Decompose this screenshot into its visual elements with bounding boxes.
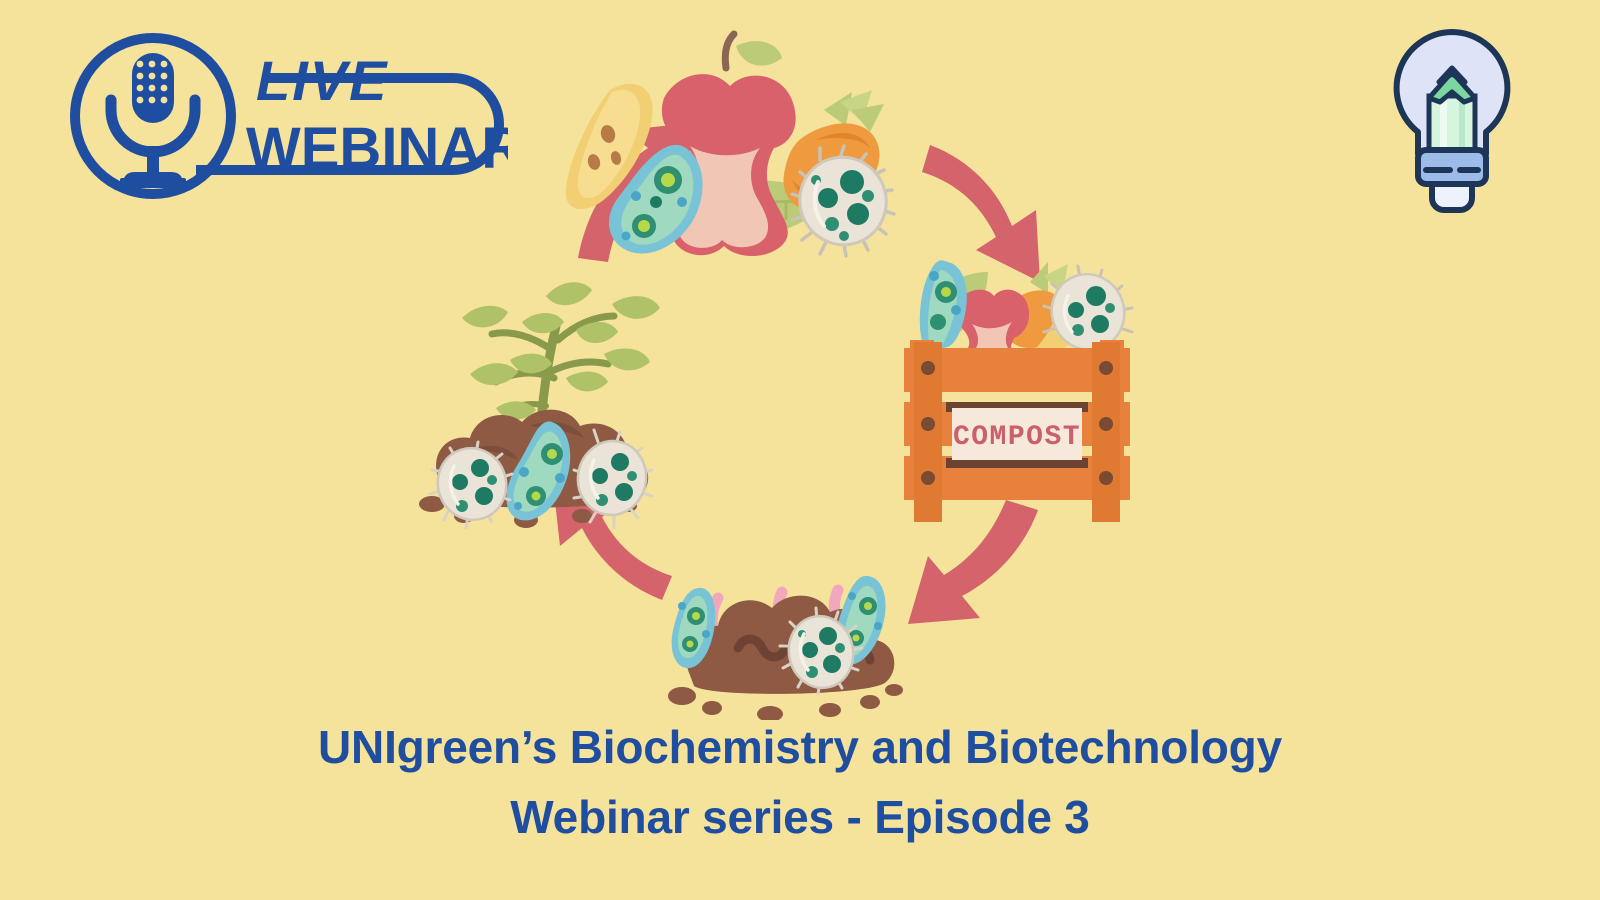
page-title: UNIgreen’s Biochemistry and Biotechnolog… <box>0 712 1600 852</box>
compost-crate: COMPOST <box>904 340 1130 522</box>
stage-new-plant <box>419 282 660 528</box>
stage-decomposing-soil <box>668 576 903 720</box>
composting-cycle-diagram: COMPOST <box>400 30 1200 720</box>
stage-food-waste <box>566 34 902 260</box>
compost-sign-text: COMPOST <box>953 422 1081 453</box>
bulb-base <box>1418 150 1486 210</box>
stage-compost-bin: COMPOST <box>904 260 1135 522</box>
title-line-2: Webinar series - Episode 3 <box>0 782 1600 852</box>
title-line-1: UNIgreen’s Biochemistry and Biotechnolog… <box>0 712 1600 782</box>
webinar-poster: LIVE WEBINAR <box>0 0 1600 900</box>
logo-text-live: LIVE <box>256 49 388 112</box>
lightbulb-pencil-icon <box>1382 24 1522 224</box>
bacteria-rod-compost <box>920 260 967 348</box>
